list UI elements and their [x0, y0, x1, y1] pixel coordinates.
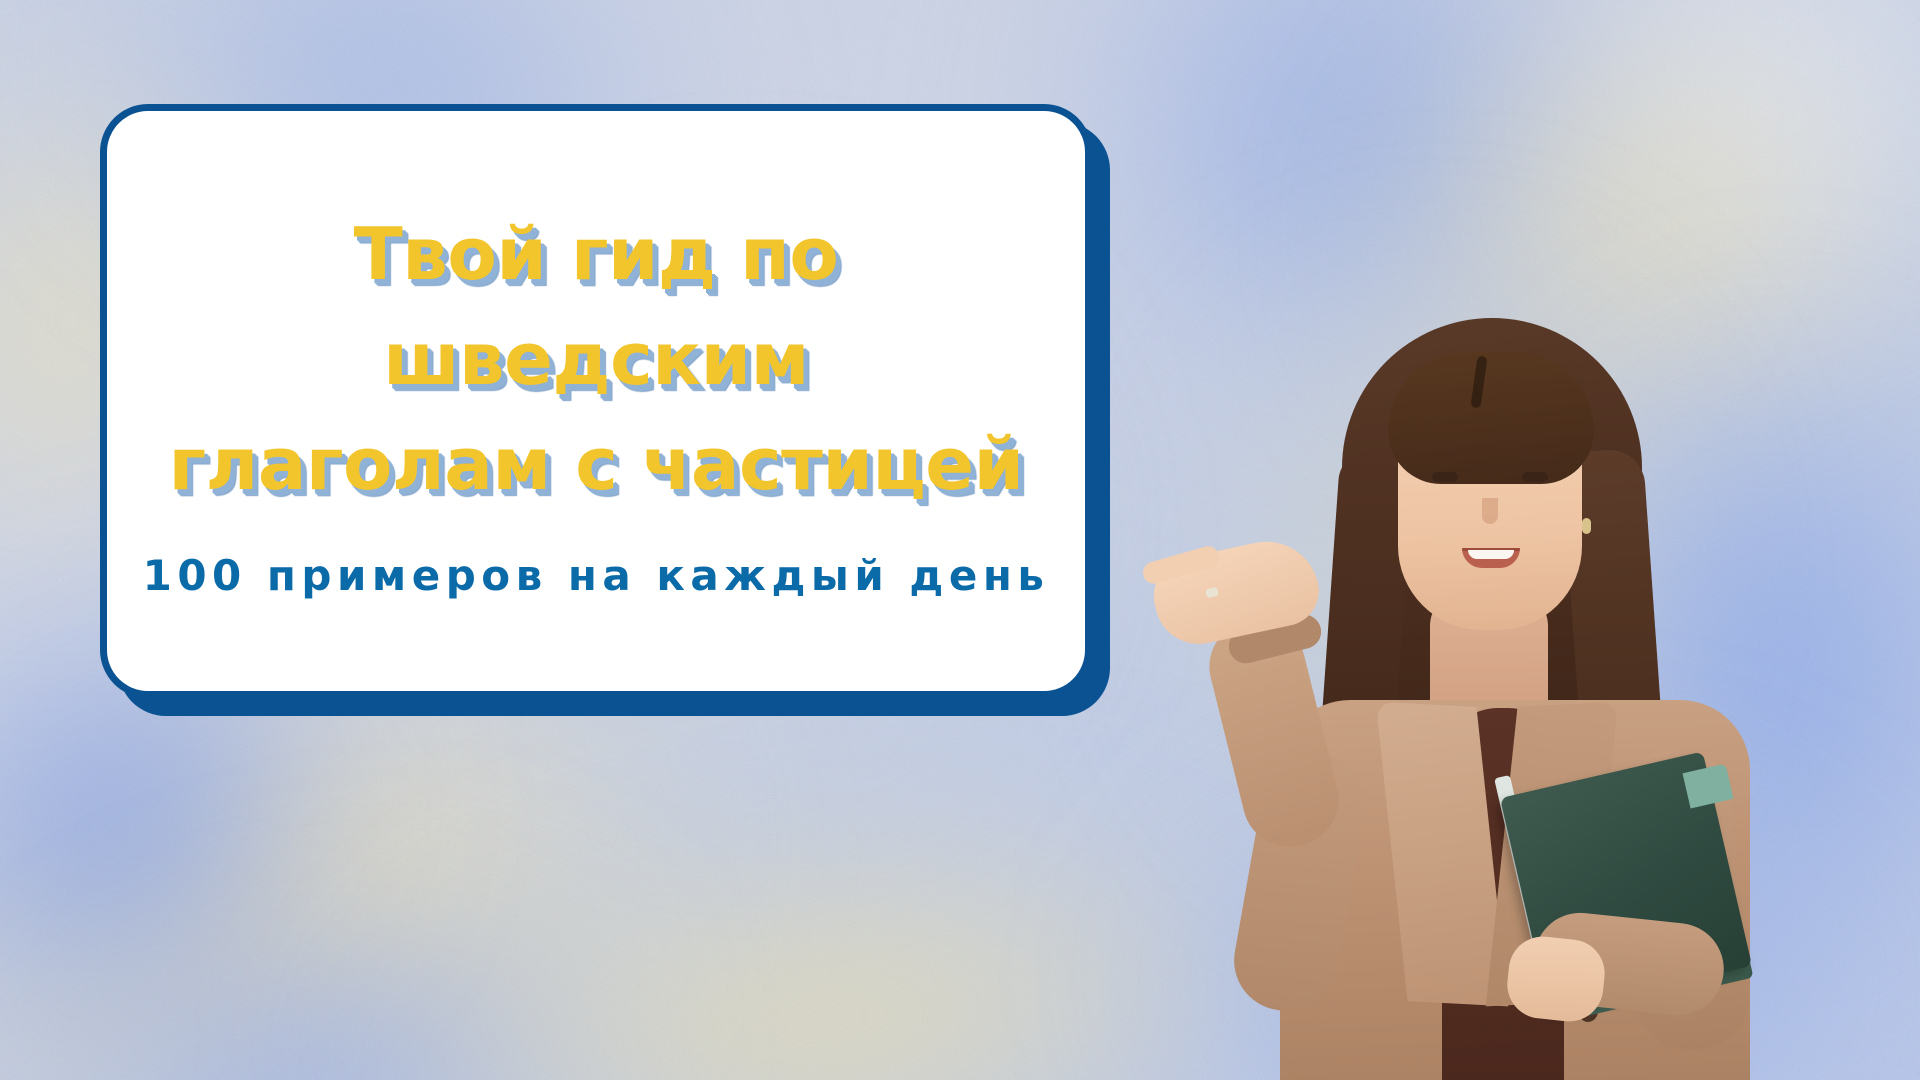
presenter-earring: [1582, 518, 1591, 534]
presenter-nose: [1482, 498, 1498, 524]
presenter-eye-right: [1522, 472, 1548, 482]
presenter-photo: [1130, 300, 1920, 1080]
page-title-line-1: Твой гид по шведским: [147, 202, 1045, 412]
page-title: Твой гид по шведским глаголам с частицей: [147, 202, 1045, 517]
page-subtitle: 100 примеров на каждый день: [143, 551, 1050, 600]
presenter-right-hand: [1504, 933, 1608, 1025]
presenter-hair-fringe: [1388, 352, 1594, 484]
page-title-line-2: глаголам с частицей: [147, 412, 1045, 517]
presenter-teeth: [1468, 550, 1514, 559]
presenter-eye-left: [1432, 472, 1458, 482]
banner-canvas: Твой гид по шведским глаголам с частицей…: [0, 0, 1920, 1080]
headline-card: Твой гид по шведским глаголам с частицей…: [100, 104, 1110, 716]
headline-card-body: Твой гид по шведским глаголам с частицей…: [100, 104, 1092, 698]
